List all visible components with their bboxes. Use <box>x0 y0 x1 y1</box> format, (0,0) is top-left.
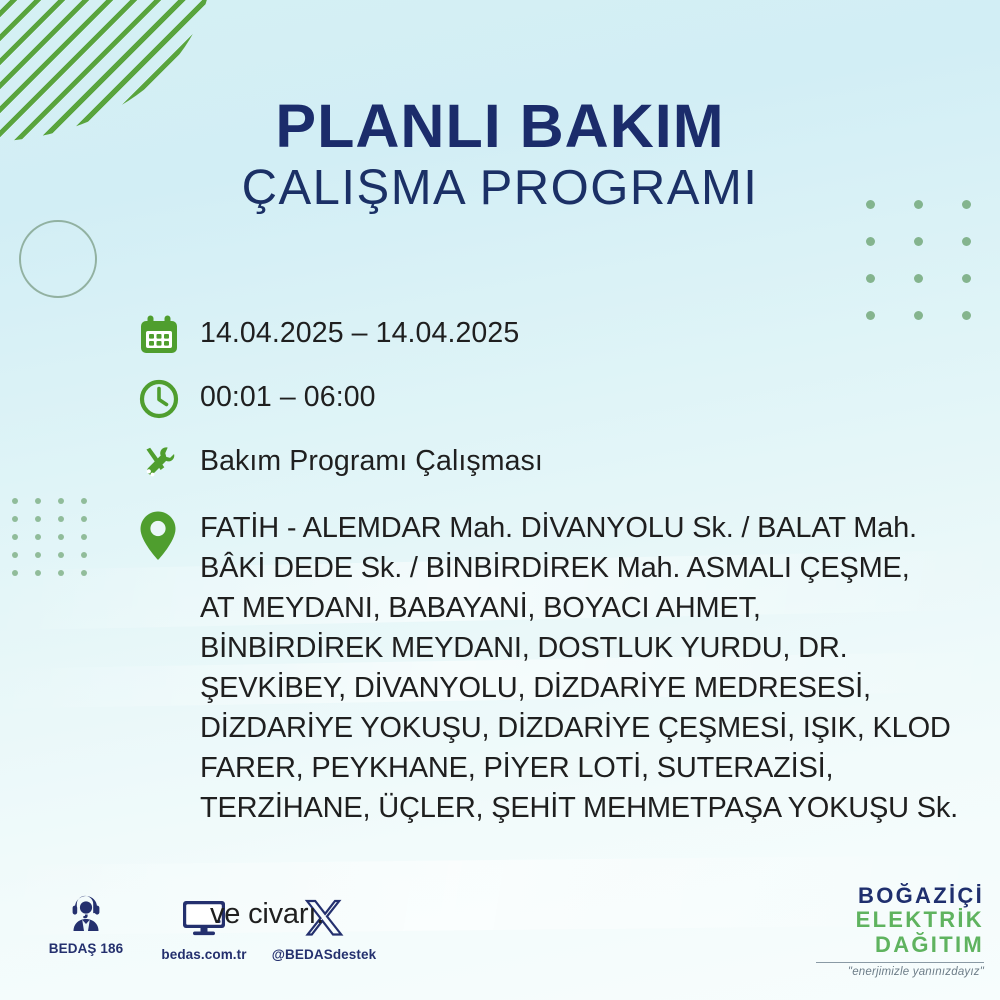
decorative-dot <box>962 274 971 283</box>
decorative-dot <box>35 534 41 540</box>
decorative-dot <box>35 570 41 576</box>
poster-header: PLANLI BAKIM ÇALIŞMA PROGRAMI <box>0 95 1000 215</box>
decorative-dot <box>81 570 87 576</box>
maintenance-info-list: 14.04.2025 – 14.04.2025 00:01 – 06:00 <box>138 312 988 828</box>
address-line: TERZİHANE, ÜÇLER, ŞEHİT MEHMETPAŞA YOKUŞ… <box>200 788 958 828</box>
time-range-value: 00:01 – 06:00 <box>200 376 376 416</box>
contact-phone-label: BEDAŞ 186 <box>49 941 123 956</box>
contact-social-label: @BEDASdestek <box>272 947 376 962</box>
decorative-dot <box>81 498 87 504</box>
decorative-dot <box>58 534 64 540</box>
decorative-dot <box>35 516 41 522</box>
brand-logo: BOĞAZİÇİ ELEKTRİK DAĞITIM "enerjimizle y… <box>816 884 984 978</box>
info-row-date: 14.04.2025 – 14.04.2025 <box>138 312 988 356</box>
date-range-value: 14.04.2025 – 14.04.2025 <box>200 312 519 352</box>
decorative-dot <box>58 552 64 558</box>
address-line: BÂKİ DEDE Sk. / BİNBİRDİREK Mah. ASMALI … <box>200 548 958 588</box>
brand-divider <box>816 962 984 964</box>
brand-slogan: "enerjimizle yanınızdayız" <box>816 966 984 978</box>
contact-phone[interactable]: BEDAŞ 186 <box>40 890 132 956</box>
page-title: PLANLI BAKIM <box>0 95 1000 157</box>
tools-icon <box>138 440 200 484</box>
brand-line-bogazici: BOĞAZİÇİ <box>816 884 984 909</box>
decorative-dot <box>914 237 923 246</box>
decorative-dot <box>866 274 875 283</box>
decorative-dot <box>81 552 87 558</box>
address-line: AT MEYDANI, BABAYANİ, BOYACI AHMET, <box>200 588 958 628</box>
address-line: FARER, PEYKHANE, PİYER LOTİ, SUTERAZİSİ, <box>200 748 958 788</box>
info-row-work-type: Bakım Programı Çalışması <box>138 440 988 484</box>
decorative-dot <box>81 534 87 540</box>
clock-icon <box>138 376 200 420</box>
planned-maintenance-poster: PLANLI BAKIM ÇALIŞMA PROGRAMI <box>0 0 1000 1000</box>
address-text: FATİH - ALEMDAR Mah. DİVANYOLU Sk. / BAL… <box>200 504 958 828</box>
work-type-value: Bakım Programı Çalışması <box>200 440 543 480</box>
contact-website-label: bedas.com.tr <box>161 947 246 962</box>
decorative-dot <box>962 237 971 246</box>
info-row-time: 00:01 – 06:00 <box>138 376 988 420</box>
dot-grid-left-decoration <box>12 498 104 588</box>
decorative-dot <box>58 516 64 522</box>
decorative-dot <box>12 534 18 540</box>
brand-line-elektrik: ELEKTRİK <box>816 908 984 933</box>
brand-line-dagitim: DAĞITIM <box>816 933 984 958</box>
address-line: FATİH - ALEMDAR Mah. DİVANYOLU Sk. / BAL… <box>200 508 958 548</box>
decorative-dot <box>58 570 64 576</box>
decorative-dot <box>12 552 18 558</box>
decorative-dot <box>866 237 875 246</box>
decorative-dot <box>914 274 923 283</box>
decorative-dot <box>12 570 18 576</box>
support-agent-icon <box>66 890 106 934</box>
address-line: ŞEVKİBEY, DİVANYOLU, DİZDARİYE MEDRESESİ… <box>200 668 958 708</box>
page-subtitle: ÇALIŞMA PROGRAMI <box>0 163 1000 214</box>
decorative-dot <box>35 498 41 504</box>
decorative-dot <box>35 552 41 558</box>
decorative-dot <box>81 516 87 522</box>
info-row-address: FATİH - ALEMDAR Mah. DİVANYOLU Sk. / BAL… <box>138 504 988 828</box>
decorative-dot <box>12 516 18 522</box>
address-trailing-text: ve civarı. <box>210 898 324 931</box>
address-line: DİZDARİYE YOKUŞU, DİZDARİYE ÇEŞMESİ, IŞI… <box>200 708 958 748</box>
circle-outline-decoration <box>19 220 97 298</box>
decorative-dot <box>58 498 64 504</box>
map-pin-icon <box>138 504 200 562</box>
address-line: BİNBİRDİREK MEYDANI, DOSTLUK YURDU, DR. <box>200 628 958 668</box>
decorative-dot <box>12 498 18 504</box>
calendar-icon <box>138 312 200 356</box>
